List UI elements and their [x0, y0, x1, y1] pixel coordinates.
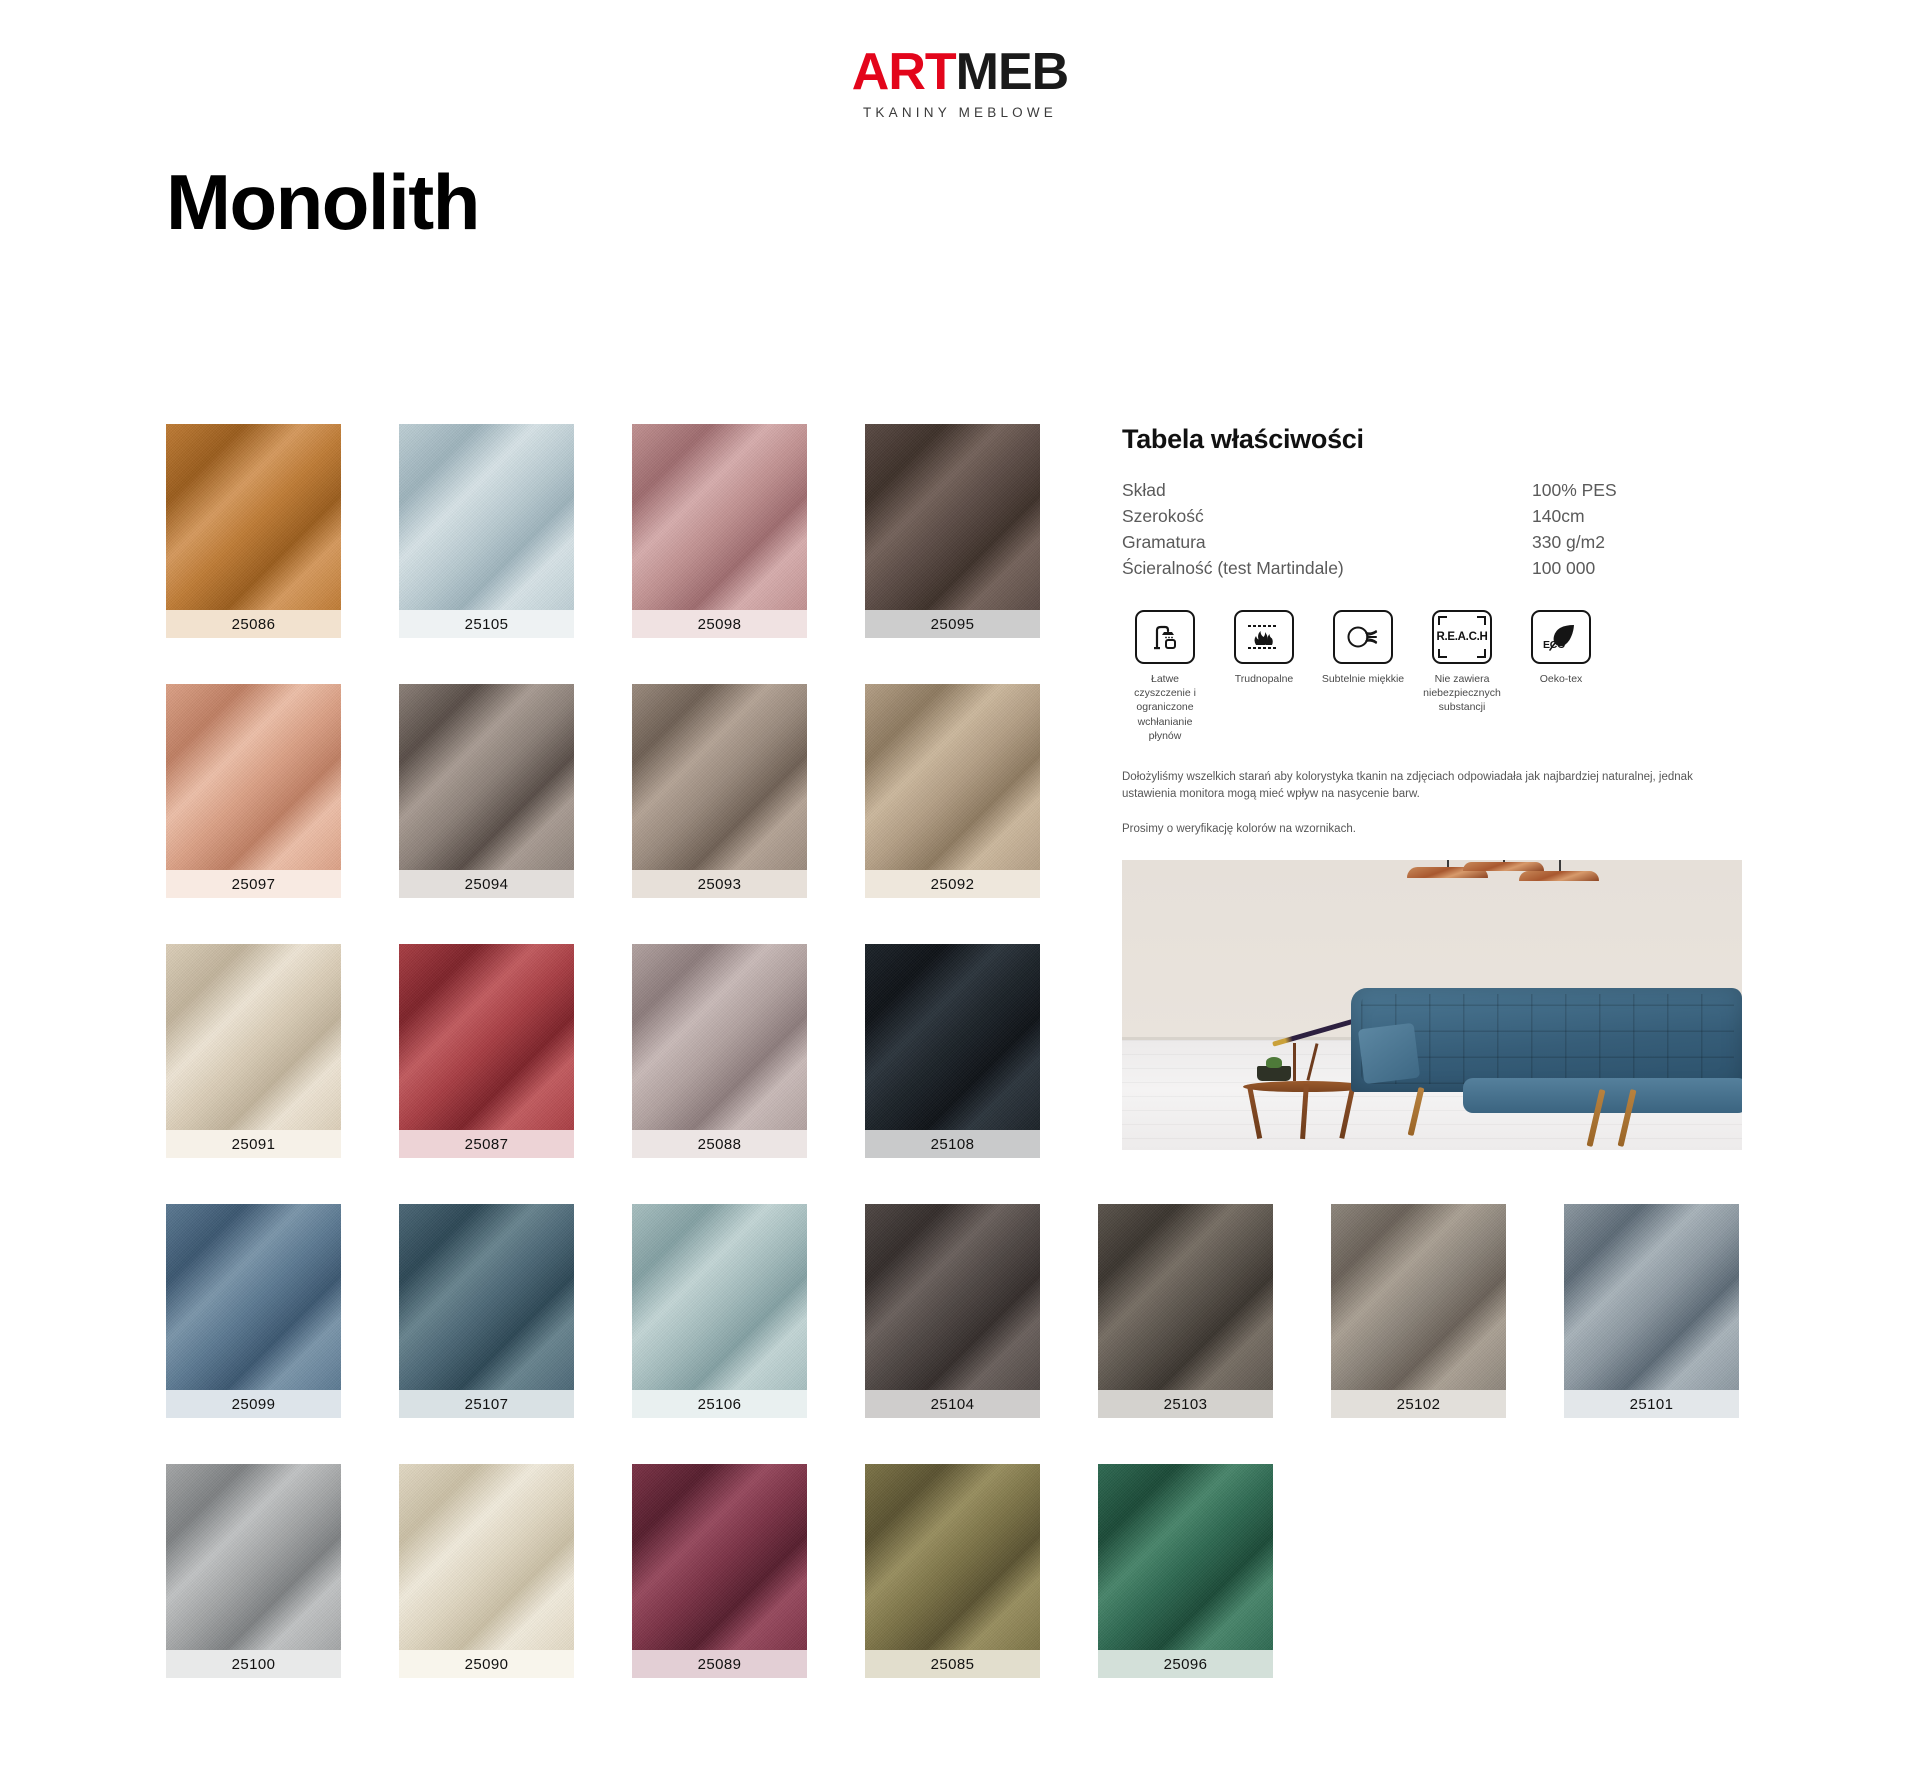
swatch-fabric-image — [166, 1204, 341, 1390]
swatch-25099[interactable]: 25099 — [166, 1204, 341, 1418]
interior-photo — [1122, 860, 1742, 1150]
cactus-plant — [1257, 1066, 1291, 1081]
swatch-fabric-image — [865, 424, 1040, 610]
swatch-fabric-image — [865, 684, 1040, 870]
swatch-25086[interactable]: 25086 — [166, 424, 341, 638]
reach-corner-bracket — [1477, 616, 1486, 625]
swatch-fabric-image — [1098, 1464, 1273, 1650]
swatch-25096[interactable]: 25096 — [1098, 1464, 1273, 1678]
swatch-fabric-image — [632, 684, 807, 870]
specs-table: Skład100% PESSzerokość140cmGramatura330 … — [1122, 477, 1742, 582]
swatch-fabric-image — [632, 1464, 807, 1650]
feature-flame-retardant: Trudnopalne — [1221, 610, 1307, 743]
telescope-tripod-left — [1293, 1043, 1296, 1081]
swatch-code-label: 25103 — [1098, 1390, 1273, 1418]
swatch-fabric-image — [399, 944, 574, 1130]
spec-label: Szerokość — [1122, 503, 1532, 529]
spec-label: Gramatura — [1122, 530, 1532, 556]
swatch-fabric-image — [399, 1464, 574, 1650]
pendant-lamp-right — [1519, 860, 1600, 941]
reach-badge-text: R.E.A.C.H — [1437, 631, 1488, 643]
feature-shower-cleaning: Łatwe czyszczenie i ograniczone wchłania… — [1122, 610, 1208, 743]
swatch-row-5: 2510025090250892508525096 — [166, 1464, 1746, 1678]
swatch-fabric-image — [1564, 1204, 1739, 1390]
swatch-fabric-image — [399, 1204, 574, 1390]
flame-retardant-icon — [1234, 610, 1294, 664]
swatch-row-4: 25099251072510625104251032510225101 — [166, 1204, 1746, 1418]
logo-wordmark: ARTMEB — [0, 46, 1920, 98]
properties-heading: Tabela właściwości — [1122, 424, 1742, 455]
swatch-code-label: 25088 — [632, 1130, 807, 1158]
swatch-code-label: 25089 — [632, 1650, 807, 1678]
swatch-25089[interactable]: 25089 — [632, 1464, 807, 1678]
soft-touch-icon — [1333, 610, 1393, 664]
feature-soft-touch: Subtelnie miękkie — [1320, 610, 1406, 743]
specs-table-body: Skład100% PESSzerokość140cmGramatura330 … — [1122, 477, 1742, 582]
swatch-25103[interactable]: 25103 — [1098, 1204, 1273, 1418]
swatch-code-label: 25097 — [166, 870, 341, 898]
swatch-fabric-image — [166, 424, 341, 610]
logo-meb-text: MEB — [956, 43, 1069, 101]
swatch-fabric-image — [166, 944, 341, 1130]
spec-row: Ścieralność (test Martindale)100 000 — [1122, 556, 1742, 582]
reach-corner-bracket — [1438, 616, 1447, 625]
swatch-code-label: 25104 — [865, 1390, 1040, 1418]
swatch-code-label: 25095 — [865, 610, 1040, 638]
swatch-fabric-image — [1098, 1204, 1273, 1390]
swatch-25095[interactable]: 25095 — [865, 424, 1040, 638]
feature-reach: R.E.A.C.HNie zawiera niebezpiecznych sub… — [1419, 610, 1505, 743]
eco-leaf-icon: ECO — [1531, 610, 1591, 664]
swatch-code-label: 25090 — [399, 1650, 574, 1678]
swatch-fabric-image — [166, 684, 341, 870]
swatch-25106[interactable]: 25106 — [632, 1204, 807, 1418]
brand-logo: ARTMEB TKANINY MEBLOWE — [0, 46, 1920, 120]
feature-caption: Trudnopalne — [1235, 672, 1294, 686]
swatch-25097[interactable]: 25097 — [166, 684, 341, 898]
swatch-25105[interactable]: 25105 — [399, 424, 574, 638]
swatch-code-label: 25091 — [166, 1130, 341, 1158]
swatch-25088[interactable]: 25088 — [632, 944, 807, 1158]
properties-panel: Tabela właściwości Skład100% PESSzerokoś… — [1122, 424, 1742, 1150]
swatch-fabric-image — [632, 944, 807, 1130]
swatch-fabric-image — [1331, 1204, 1506, 1390]
spec-label: Skład — [1122, 477, 1532, 503]
spec-value: 100% PES — [1532, 477, 1742, 503]
swatch-25107[interactable]: 25107 — [399, 1204, 574, 1418]
swatch-code-label: 25108 — [865, 1130, 1040, 1158]
swatch-code-label: 25106 — [632, 1390, 807, 1418]
spec-label: Ścieralność (test Martindale) — [1122, 556, 1532, 582]
swatch-fabric-image — [632, 424, 807, 610]
spec-value: 100 000 — [1532, 556, 1742, 582]
feature-caption: Łatwe czyszczenie i ograniczone wchłania… — [1122, 672, 1208, 743]
spec-value: 140cm — [1532, 503, 1742, 529]
swatch-25090[interactable]: 25090 — [399, 1464, 574, 1678]
eco-badge-text: ECO — [1543, 639, 1565, 651]
swatch-fabric-image — [399, 424, 574, 610]
spec-row: Gramatura330 g/m2 — [1122, 530, 1742, 556]
disclaimer-block: Dołożyliśmy wszelkich starań aby kolorys… — [1122, 769, 1742, 838]
feature-eco-leaf: ECOOeko-tex — [1518, 610, 1604, 743]
swatch-code-label: 25098 — [632, 610, 807, 638]
disclaimer-paragraph-2: Prosimy o weryfikację kolorów na wzornik… — [1122, 821, 1737, 838]
swatch-25092[interactable]: 25092 — [865, 684, 1040, 898]
swatch-25085[interactable]: 25085 — [865, 1464, 1040, 1678]
swatch-25093[interactable]: 25093 — [632, 684, 807, 898]
swatch-fabric-image — [865, 944, 1040, 1130]
disclaimer-paragraph-1: Dołożyliśmy wszelkich starań aby kolorys… — [1122, 769, 1737, 804]
swatch-code-label: 25107 — [399, 1390, 574, 1418]
swatch-code-label: 25105 — [399, 610, 574, 638]
swatch-fabric-image — [865, 1204, 1040, 1390]
swatch-25098[interactable]: 25098 — [632, 424, 807, 638]
spec-row: Szerokość140cm — [1122, 503, 1742, 529]
reach-corner-bracket — [1438, 649, 1447, 658]
swatch-25100[interactable]: 25100 — [166, 1464, 341, 1678]
feature-caption: Nie zawiera niebezpiecznych substancji — [1419, 672, 1505, 715]
swatch-25104[interactable]: 25104 — [865, 1204, 1040, 1418]
swatch-code-label: 25085 — [865, 1650, 1040, 1678]
feature-caption: Subtelnie miękkie — [1322, 672, 1404, 686]
logo-art-text: ART — [852, 43, 956, 101]
spec-value: 330 g/m2 — [1532, 530, 1742, 556]
swatch-25102[interactable]: 25102 — [1331, 1204, 1506, 1418]
swatch-fabric-image — [399, 684, 574, 870]
swatch-code-label: 25087 — [399, 1130, 574, 1158]
swatch-code-label: 25094 — [399, 870, 574, 898]
feature-caption: Oeko-tex — [1540, 672, 1583, 686]
swatch-code-label: 25102 — [1331, 1390, 1506, 1418]
feature-icons-list: Łatwe czyszczenie i ograniczone wchłania… — [1122, 610, 1742, 743]
swatch-fabric-image — [166, 1464, 341, 1650]
reach-corner-bracket — [1477, 649, 1486, 658]
swatch-25101[interactable]: 25101 — [1564, 1204, 1739, 1418]
page-title: Monolith — [166, 163, 479, 241]
swatch-code-label: 25096 — [1098, 1650, 1273, 1678]
swatch-fabric-image — [865, 1464, 1040, 1650]
spec-row: Skład100% PES — [1122, 477, 1742, 503]
reach-icon: R.E.A.C.H — [1432, 610, 1492, 664]
swatch-25091[interactable]: 25091 — [166, 944, 341, 1158]
shower-cleaning-icon — [1135, 610, 1195, 664]
swatch-code-label: 25092 — [865, 870, 1040, 898]
swatch-25087[interactable]: 25087 — [399, 944, 574, 1158]
swatch-code-label: 25093 — [632, 870, 807, 898]
swatch-code-label: 25100 — [166, 1650, 341, 1678]
swatch-25108[interactable]: 25108 — [865, 944, 1040, 1158]
swatch-fabric-image — [632, 1204, 807, 1390]
swatch-code-label: 25101 — [1564, 1390, 1739, 1418]
fabric-catalog-page: ARTMEB TKANINY MEBLOWE Monolith 25086251… — [0, 0, 1920, 1768]
sofa-cushion — [1358, 1022, 1420, 1083]
swatch-25094[interactable]: 25094 — [399, 684, 574, 898]
swatch-code-label: 25099 — [166, 1390, 341, 1418]
logo-tagline: TKANINY MEBLOWE — [0, 105, 1920, 120]
swatch-code-label: 25086 — [166, 610, 341, 638]
